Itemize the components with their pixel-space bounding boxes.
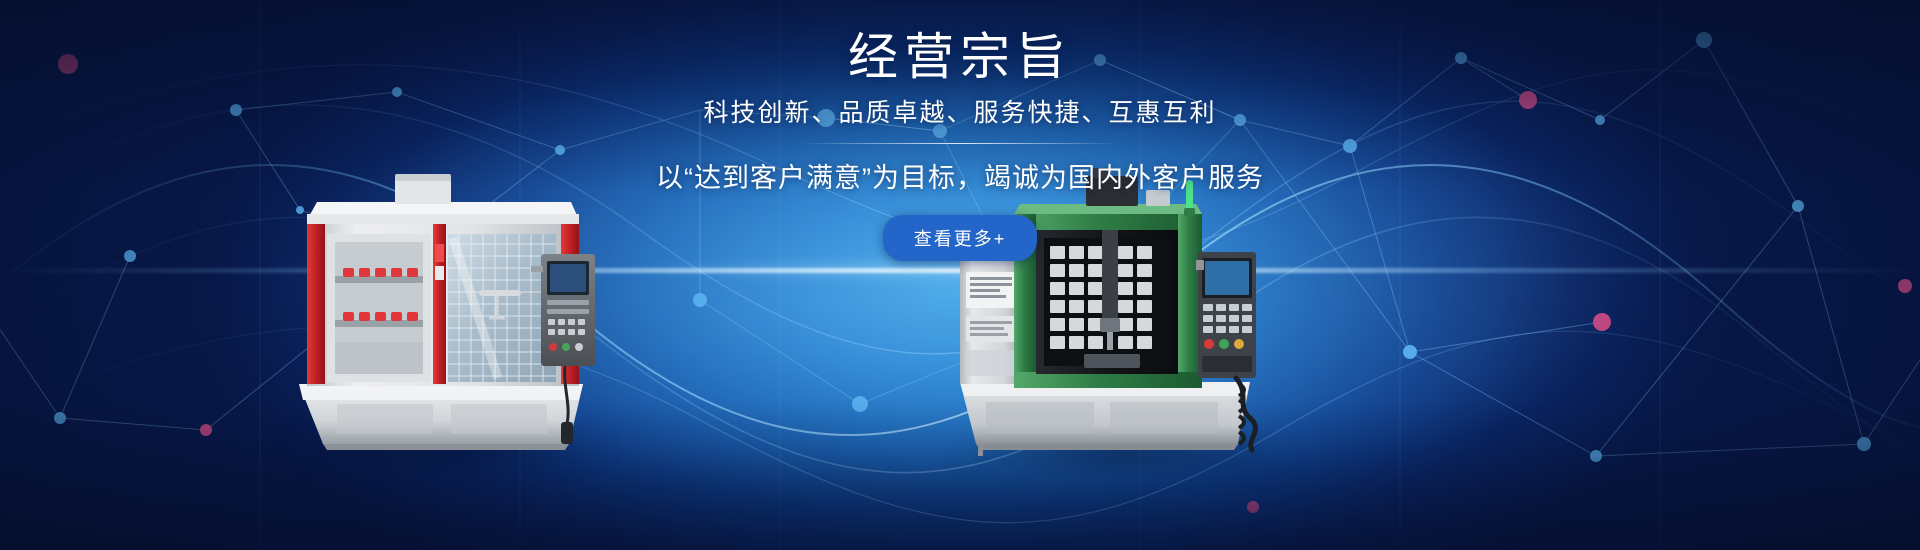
- banner-content: 经营宗旨 科技创新、品质卓越、服务快捷、互惠互利 以“达到客户满意”为目标，竭诚…: [0, 0, 1920, 261]
- view-more-button[interactable]: 查看更多+: [883, 215, 1038, 261]
- banner-tagline: 以“达到客户满意”为目标，竭诚为国内外客户服务: [0, 156, 1920, 195]
- promo-banner: 经营宗旨 科技创新、品质卓越、服务快捷、互惠互利 以“达到客户满意”为目标，竭诚…: [0, 0, 1920, 550]
- page-title: 经营宗旨: [0, 0, 1920, 87]
- banner-subtitle: 科技创新、品质卓越、服务快捷、互惠互利: [0, 93, 1920, 129]
- title-divider: [800, 143, 1120, 144]
